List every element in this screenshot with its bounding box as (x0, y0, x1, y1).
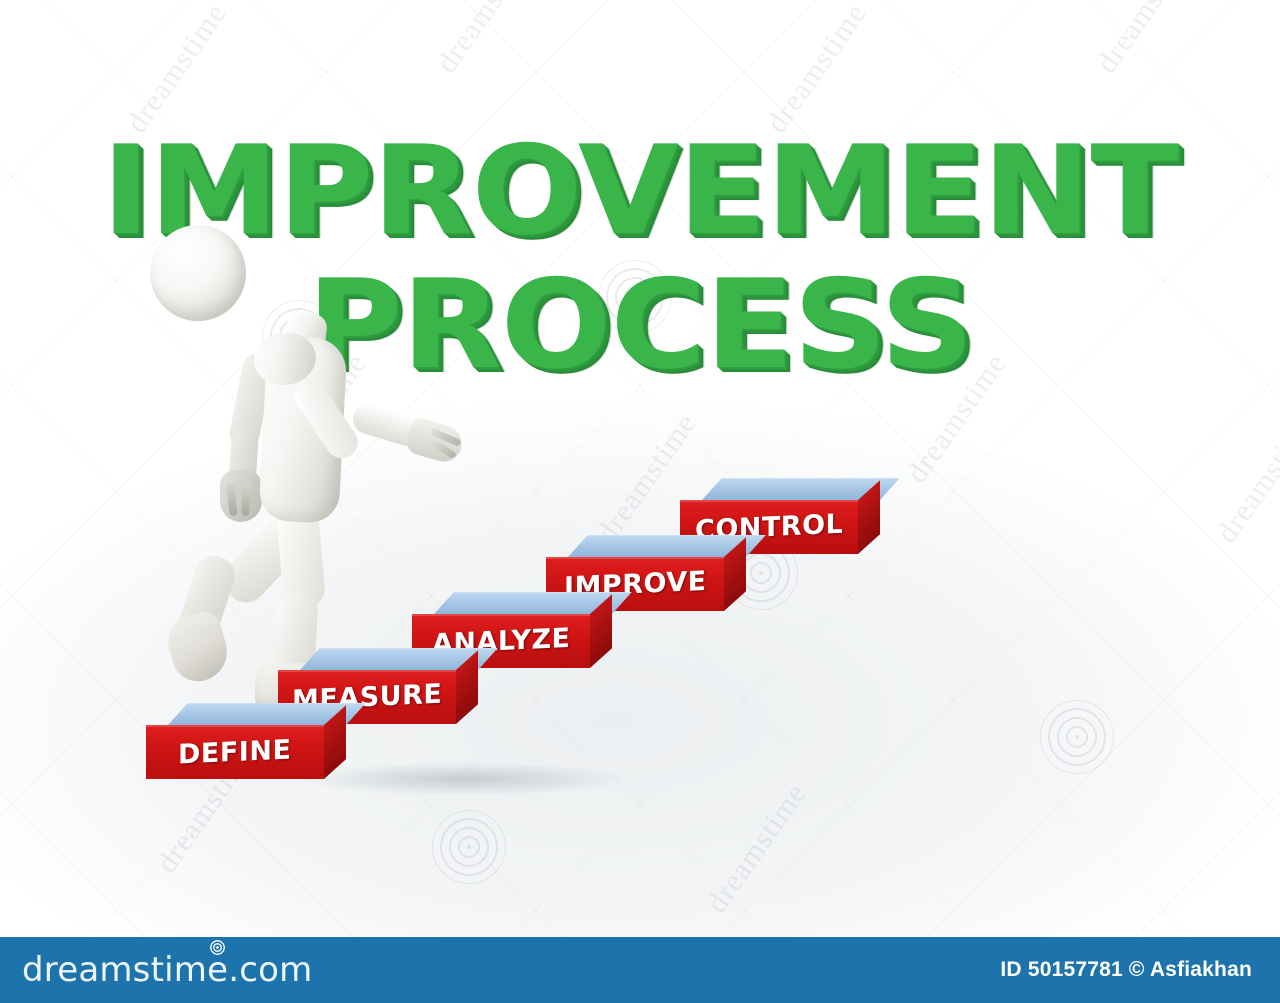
watermark-text: dreamstime (1090, 0, 1204, 80)
dreamstime-footer-bar: dreamstime.com ID 50157781 © Asfiakhan (0, 937, 1280, 1003)
watermark-text: dreamstime (1210, 407, 1280, 549)
step-define-label: DEFINE (178, 734, 291, 770)
image-canvas: dreamstime dreamstime dreamstime dreamst… (0, 0, 1280, 1003)
dreamstime-logo-text: dreamstime.com (22, 950, 312, 990)
watermark-text: dreamstime (430, 0, 544, 80)
character-front-hand (404, 416, 466, 465)
stair-ground-shadow (300, 762, 630, 796)
watermark-spiral-icon (1040, 700, 1114, 774)
character-head (150, 225, 246, 321)
watermark-text: dreamstime (900, 347, 1014, 489)
step-define[interactable]: DEFINE (146, 703, 346, 785)
character-back-foot (162, 609, 234, 688)
watermark-text: dreamstime (700, 777, 814, 919)
image-id-credit: ID 50157781 © Asfiakhan (1000, 958, 1252, 982)
dreamstime-logo: dreamstime.com (22, 950, 312, 990)
watermark-spiral-icon (598, 260, 672, 334)
step-define-face: DEFINE (146, 725, 324, 779)
watermark-text: dreamstime (120, 0, 234, 140)
character-back-hand (220, 470, 262, 522)
watermark-text: dreamstime (760, 0, 874, 140)
watermark-spiral-icon (432, 810, 506, 884)
